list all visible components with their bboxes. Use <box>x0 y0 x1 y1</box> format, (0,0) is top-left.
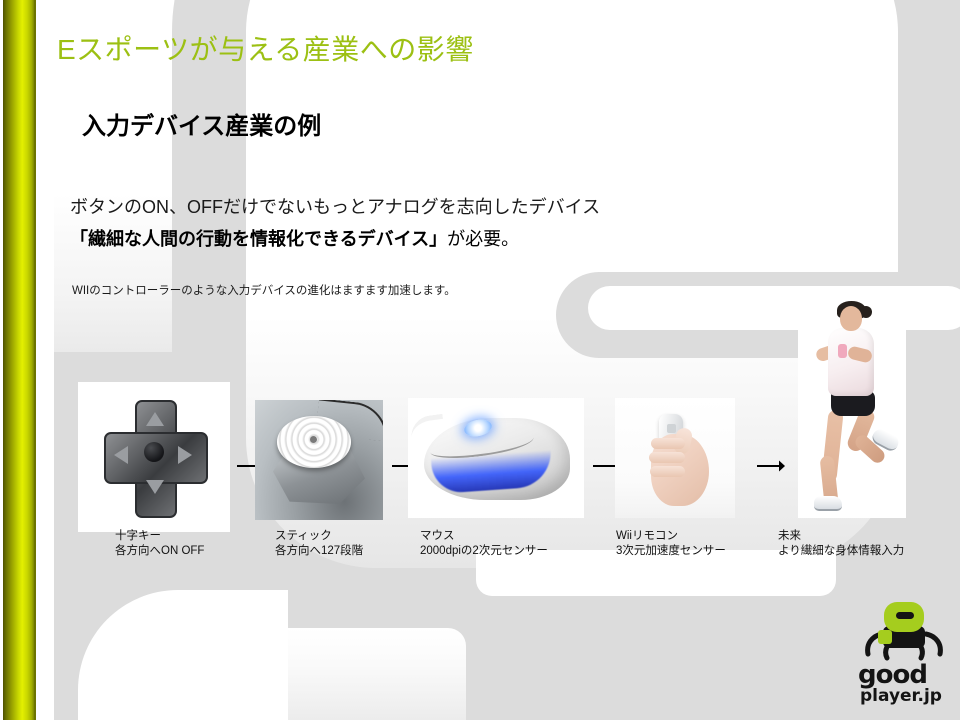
runner-left-shoe <box>814 496 842 511</box>
arrow-right-icon <box>757 459 785 473</box>
page-title: Eスポーツが与える産業への影響 <box>57 28 474 68</box>
left-accent-bar-gap <box>36 0 54 720</box>
body-text-tail: が必要。 <box>447 229 519 249</box>
good-player-mascot-icon <box>856 600 952 662</box>
left-accent-bar-edge <box>0 0 3 720</box>
caption-wii-remote: Wiiリモコン 3次元加速度センサー <box>616 529 726 559</box>
dpad-center-hub <box>144 442 164 462</box>
analog-stick-cap <box>277 416 351 468</box>
dpad-up-arrow-icon <box>146 412 164 426</box>
caption-detail: 3次元加速度センサー <box>616 544 726 559</box>
brand-logo: good player.jp <box>856 600 952 712</box>
dpad-photo <box>78 382 230 532</box>
runner-shirt-logo <box>838 344 847 358</box>
slide-subtitle: 入力デバイス産業の例 <box>82 106 321 141</box>
runner-head <box>840 306 862 331</box>
caption-title: 十字キー <box>115 529 204 544</box>
wii-remote-photo <box>615 398 735 518</box>
background-bottom-block <box>268 628 466 720</box>
caption-dpad: 十字キー 各方向へON OFF <box>115 529 204 559</box>
hand-finger <box>649 452 685 463</box>
body-text-line-2: 「繊細な人間の行動を情報化できるデバイス」が必要。 <box>70 225 519 251</box>
mouse-photo <box>408 398 584 518</box>
note-text: WIIのコントローラーのような入力デバイスの進化はますます加速します。 <box>72 282 456 298</box>
wii-remote-button <box>667 424 676 433</box>
dpad-right-arrow-icon <box>178 446 192 464</box>
caption-title: マウス <box>420 529 548 544</box>
caption-future: 未来 より繊細な身体情報入力 <box>778 529 904 559</box>
body-text-emphasis: 「繊細な人間の行動を情報化できるデバイス」 <box>70 229 447 249</box>
caption-analog-stick: スティック 各方向へ127段階 <box>275 529 363 559</box>
caption-title: 未来 <box>778 529 904 544</box>
caption-title: スティック <box>275 529 363 544</box>
caption-detail: 各方向へON OFF <box>115 544 204 559</box>
caption-title: Wiiリモコン <box>616 529 726 544</box>
caption-detail: 各方向へ127段階 <box>275 544 363 559</box>
analog-stick-photo <box>255 400 383 520</box>
body-text-line-1: ボタンのON、OFFだけでないもっとアナログを志向したデバイス <box>70 193 600 219</box>
dpad-left-arrow-icon <box>114 446 128 464</box>
presentation-slide: Eスポーツが与える産業への影響 入力デバイス産業の例 ボタンのON、OFFだけで… <box>0 0 960 720</box>
caption-detail: より繊細な身体情報入力 <box>778 544 904 559</box>
running-person-photo <box>798 290 906 518</box>
dpad-icon <box>102 398 206 516</box>
dpad-down-arrow-icon <box>146 480 164 494</box>
left-accent-bar <box>3 0 34 720</box>
logo-text-player: player.jp <box>860 686 942 706</box>
caption-detail: 2000dpiの2次元センサー <box>420 544 548 559</box>
hand-finger <box>650 466 685 477</box>
caption-mouse: マウス 2000dpiの2次元センサー <box>420 529 548 559</box>
hand-finger <box>651 438 685 449</box>
